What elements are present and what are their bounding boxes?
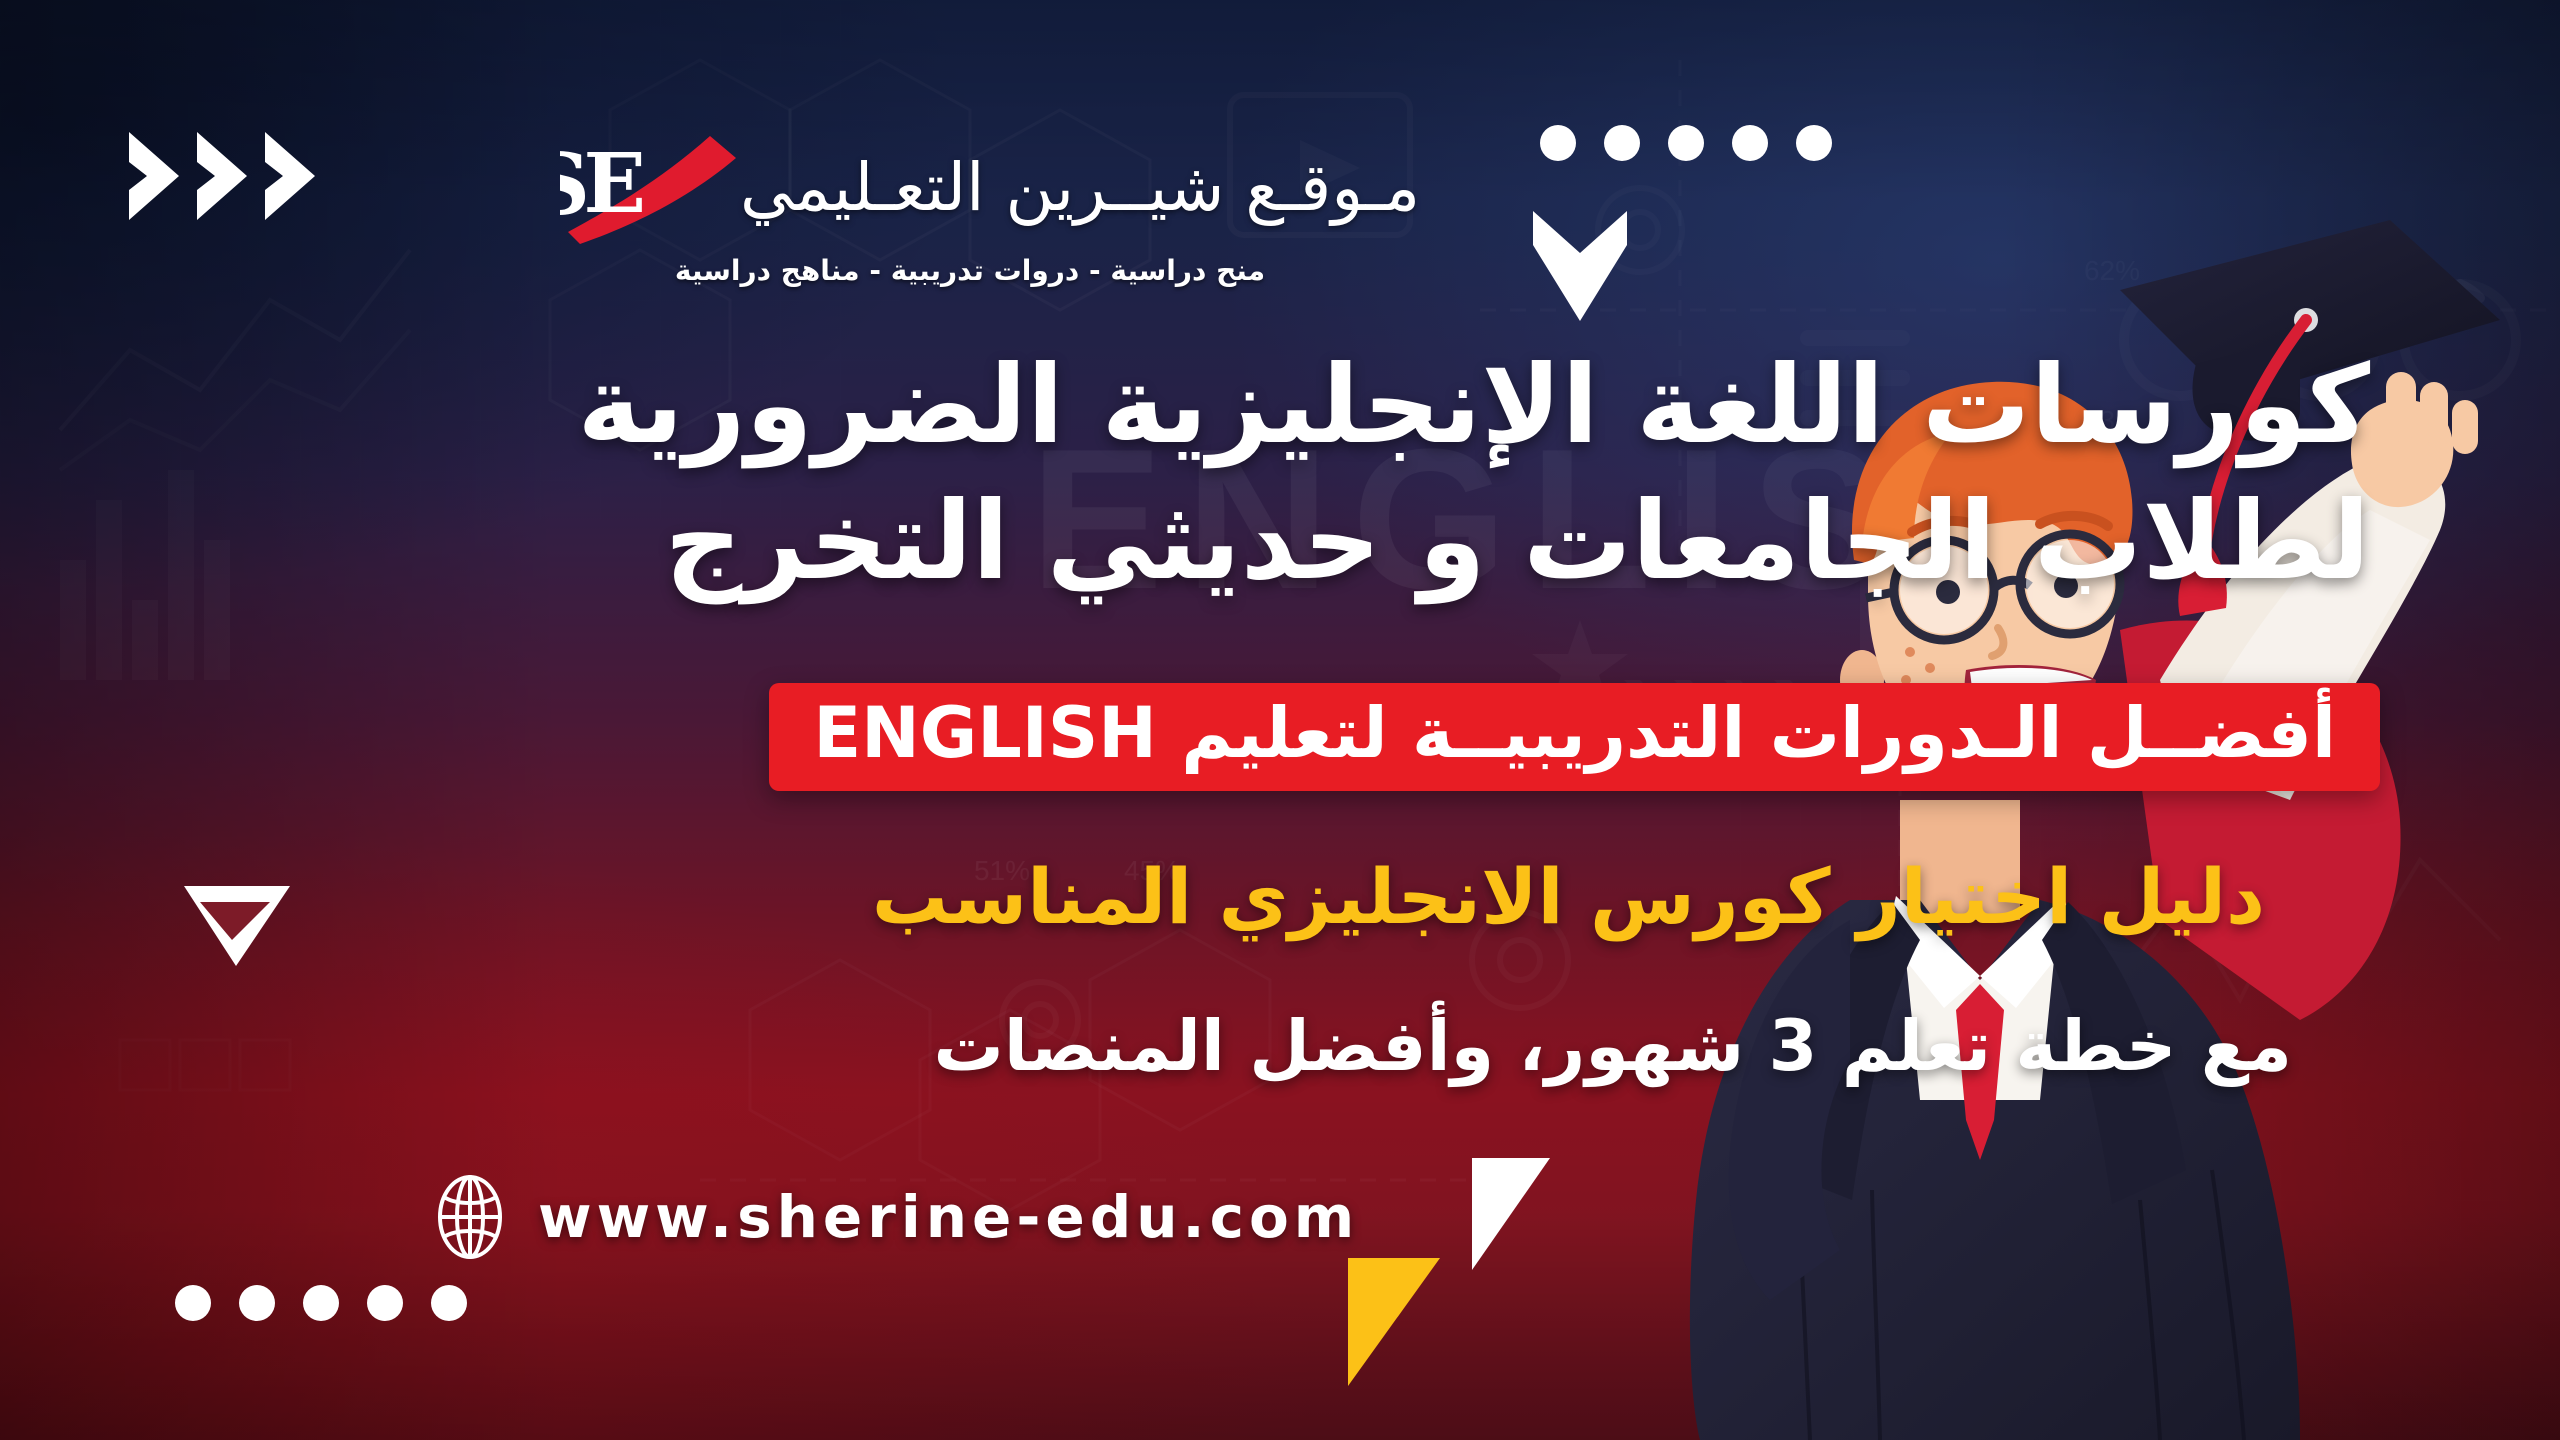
- dot: [1732, 125, 1768, 161]
- headline: كورسات اللغة الإنجليزية الضرورية لطلاب ا…: [577, 338, 2370, 610]
- dot: [303, 1285, 339, 1321]
- chevron-decoration-group: [125, 128, 319, 224]
- play-arrow-icon: [178, 876, 296, 972]
- chevron-right-icon: [125, 128, 183, 224]
- headline-line-2: لطلاب الجامعات و حديثي التخرج: [577, 474, 2370, 610]
- website-url[interactable]: www.sherine-edu.com: [538, 1183, 1359, 1251]
- dot: [431, 1285, 467, 1321]
- logo-row: مـوقـع شيــرين التعـليمي S E: [560, 128, 1440, 248]
- dot: [1668, 125, 1704, 161]
- dots-decoration-bottom: [175, 1285, 467, 1321]
- chevron-right-icon: [261, 128, 319, 224]
- svg-text:E: E: [583, 136, 646, 232]
- dot: [1604, 125, 1640, 161]
- promo-ribbon: أفضــل الـدورات التدريبيــة لتعليم ENGLI…: [769, 683, 2380, 791]
- ribbon-text: أفضــل الـدورات التدريبيــة لتعليم ENGLI…: [813, 697, 2336, 771]
- dot: [367, 1285, 403, 1321]
- se-monogram-icon: S E: [560, 128, 740, 248]
- down-arrow-icon: [1525, 205, 1635, 325]
- promo-banner: 62% 26% 24% 33% 45% 51% 45%: [0, 0, 2560, 1440]
- dot: [239, 1285, 275, 1321]
- dot: [1796, 125, 1832, 161]
- logo-arabic-text: مـوقـع شيــرين التعـليمي: [740, 155, 1420, 221]
- subtitle-white: مع خطة تعلم 3 شهور، وأفضل المنصات: [934, 1008, 2292, 1085]
- globe-icon: [432, 1175, 508, 1259]
- triangle-decoration-white: [1472, 1158, 1550, 1270]
- logo-tagline: منح دراسية - دروات تدريبية - مناهج دراسي…: [560, 254, 1380, 287]
- chevron-right-icon: [193, 128, 251, 224]
- subtitle-yellow: دليل اختيار كورس الانجليزي المناسب: [872, 855, 2265, 939]
- dot: [1540, 125, 1576, 161]
- headline-line-1: كورسات اللغة الإنجليزية الضرورية: [577, 338, 2370, 474]
- brand-logo: مـوقـع شيــرين التعـليمي S E منح دراسية …: [560, 128, 1440, 287]
- dots-decoration-top: [1540, 125, 1832, 161]
- website-row[interactable]: www.sherine-edu.com: [432, 1175, 1359, 1259]
- triangle-decoration-yellow: [1348, 1258, 1440, 1386]
- banner-content: مـوقـع شيــرين التعـليمي S E منح دراسية …: [0, 0, 2560, 1440]
- dot: [175, 1285, 211, 1321]
